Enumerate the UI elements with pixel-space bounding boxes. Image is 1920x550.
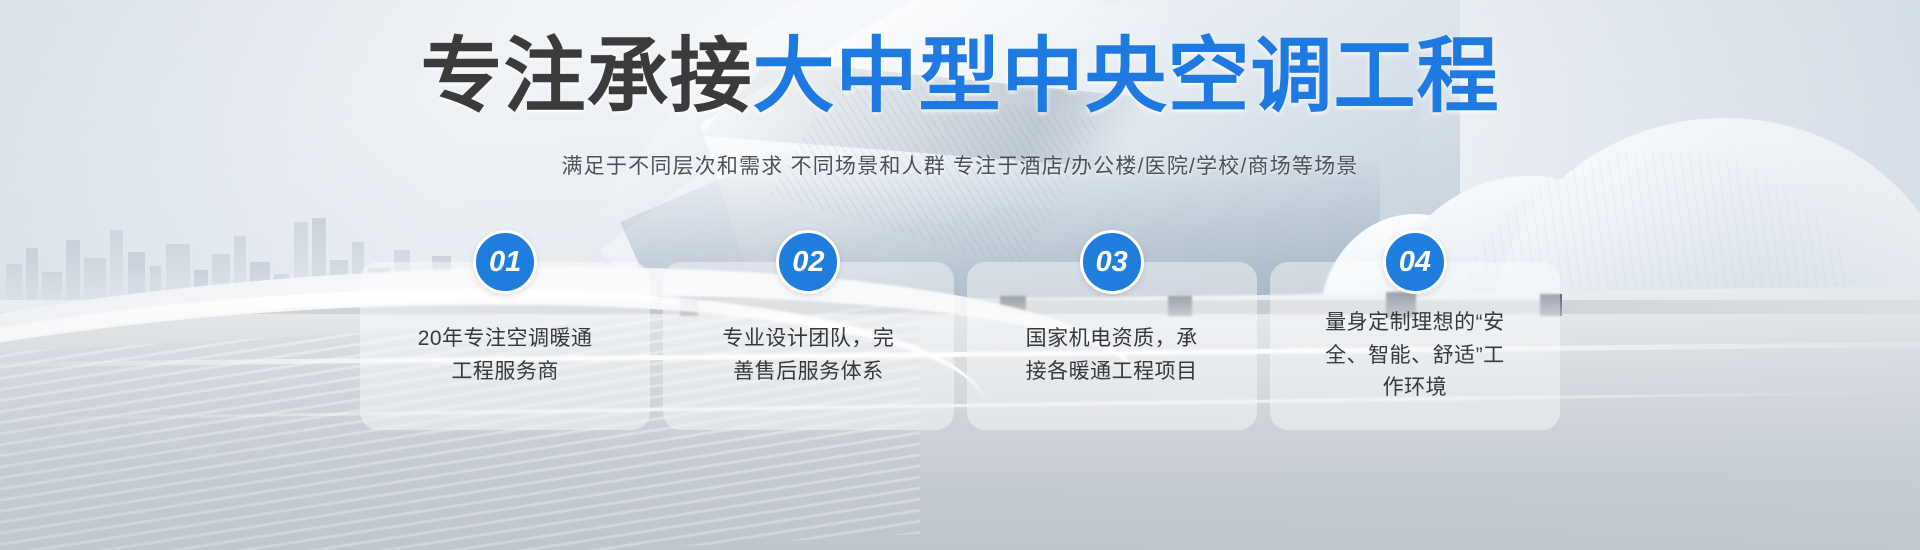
badge-label: 04 [1399, 246, 1431, 279]
headline-dark-text: 专注承接 [420, 31, 752, 122]
page-subtitle: 满足于不同层次和需求 不同场景和人群 专注于酒店/办公楼/医院/学校/商场等场景 [0, 150, 1920, 180]
feature-card-text: 量身定制理想的“安全、智能、舒适”工作环境 [1321, 307, 1509, 405]
feature-card-03[interactable]: 03 国家机电资质，承接各暖通工程项目 [967, 262, 1257, 430]
headline-blue-text: 大中型中央空调工程 [753, 31, 1500, 122]
page-title: 专注承接大中型中央空调工程 [0, 36, 1920, 118]
feature-card-text: 20年专注空调暖通工程服务商 [411, 323, 599, 388]
badge-number-03: 03 [1080, 230, 1144, 294]
hero-banner: 专注承接大中型中央空调工程 满足于不同层次和需求 不同场景和人群 专注于酒店/办… [0, 0, 1920, 550]
badge-number-02: 02 [776, 230, 840, 294]
feature-card-01[interactable]: 01 20年专注空调暖通工程服务商 [360, 262, 650, 430]
badge-number-01: 01 [473, 230, 537, 294]
badge-label: 01 [489, 246, 521, 279]
badge-label: 02 [792, 246, 824, 279]
badge-label: 03 [1095, 246, 1127, 279]
feature-card-list: 01 20年专注空调暖通工程服务商 02 专业设计团队，完善售后服务体系 03 … [360, 262, 1560, 430]
feature-card-text: 专业设计团队，完善售后服务体系 [714, 323, 902, 388]
badge-number-04: 04 [1383, 230, 1447, 294]
feature-card-text: 国家机电资质，承接各暖通工程项目 [1018, 323, 1206, 388]
feature-card-02[interactable]: 02 专业设计团队，完善售后服务体系 [663, 262, 953, 430]
feature-card-04[interactable]: 04 量身定制理想的“安全、智能、舒适”工作环境 [1270, 262, 1560, 430]
